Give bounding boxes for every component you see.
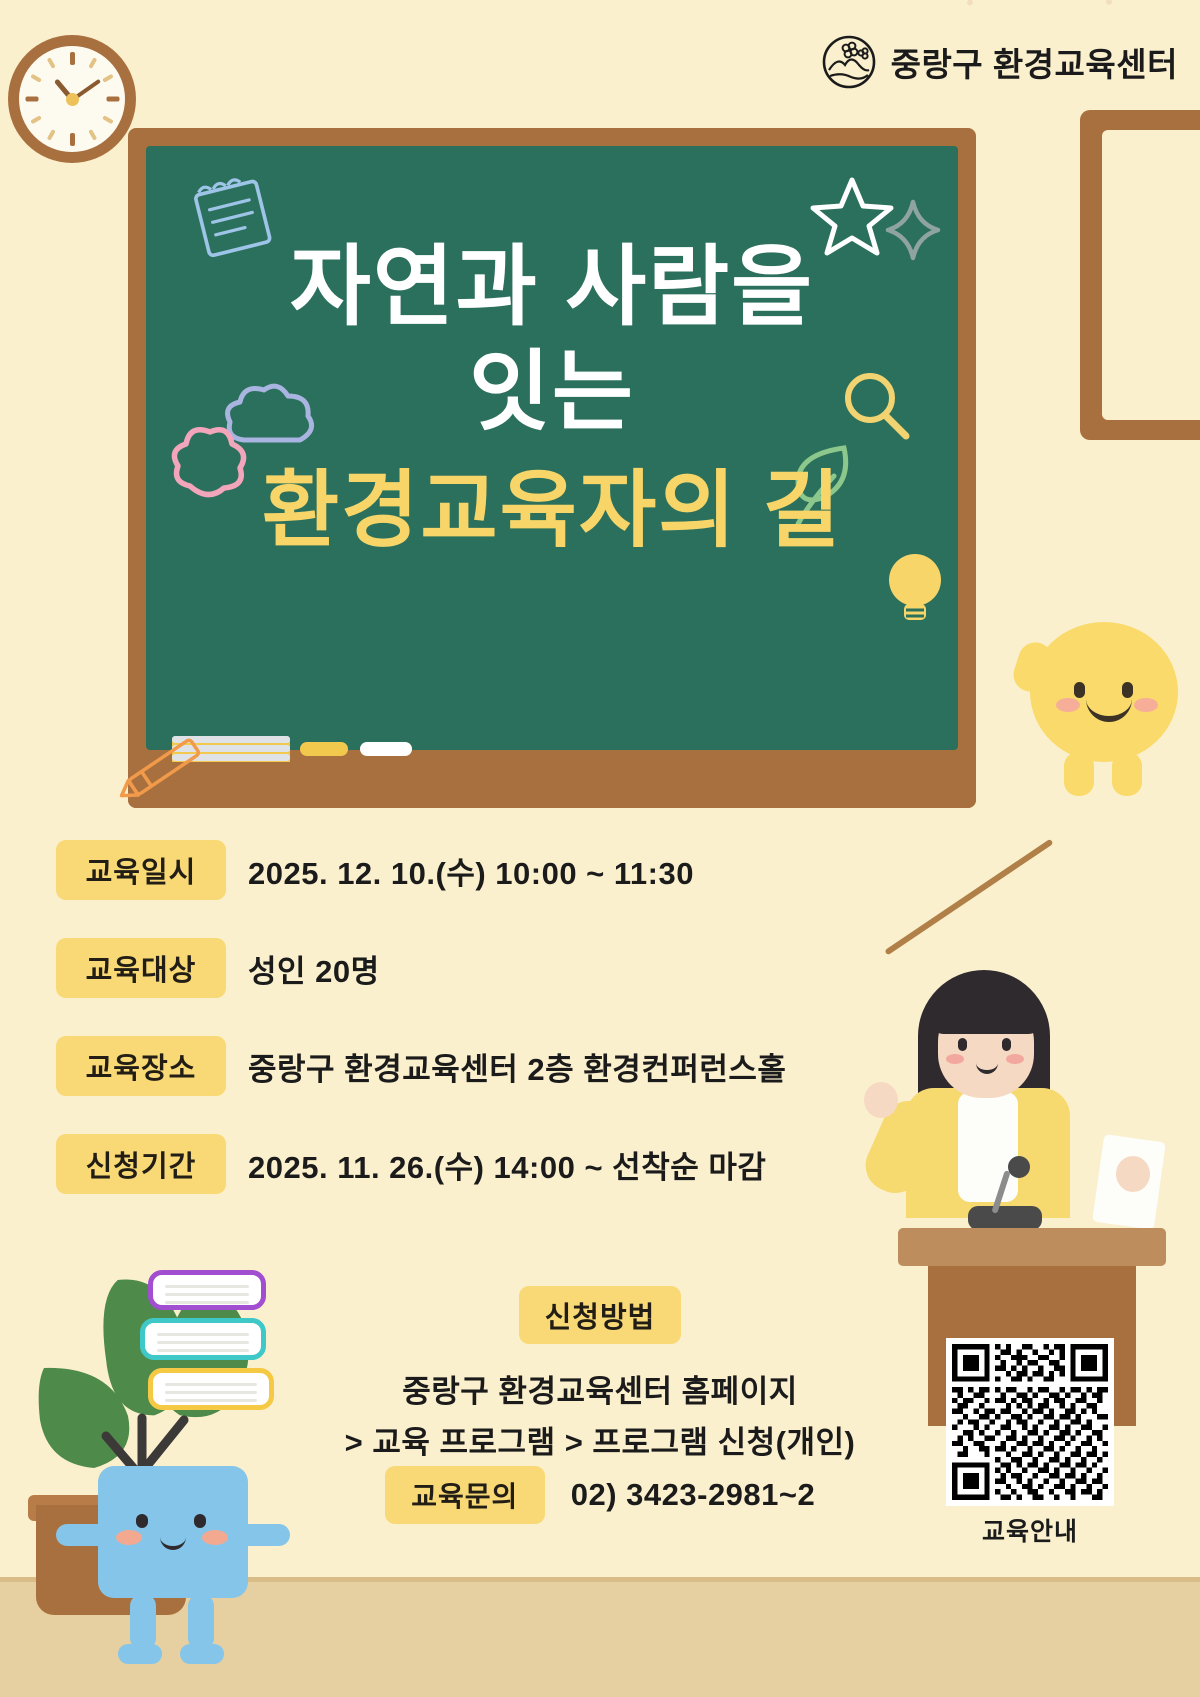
apply-method-block: 신청방법 중랑구 환경교육센터 홈페이지 > 교육 프로그램 > 프로그램 신청…: [0, 1286, 1200, 1462]
title-line-2: 잇는: [146, 343, 958, 442]
contact-phone-number: 02) 3423-2981~2: [571, 1477, 816, 1513]
contact-label-badge: 교육문의: [385, 1466, 545, 1524]
info-value: 2025. 12. 10.(수) 10:00 ~ 11:30: [248, 848, 694, 893]
chalk-yellow-icon: [300, 742, 348, 756]
info-list: 교육일시 2025. 12. 10.(수) 10:00 ~ 11:30 교육대상…: [56, 840, 876, 1232]
mascot-cheek-right: [1134, 698, 1158, 712]
info-label-badge: 교육장소: [56, 1036, 226, 1096]
apply-method-line-2: > 교육 프로그램 > 프로그램 신청(개인): [0, 1417, 1200, 1462]
teacher-eye-right: [1002, 1038, 1011, 1051]
book-character-leg-right: [188, 1594, 214, 1650]
wall-clock-icon: [8, 35, 136, 163]
door-inner-panel: [1102, 130, 1200, 420]
teacher-cheek-right: [1006, 1054, 1024, 1064]
book-character-foot-left: [118, 1644, 162, 1664]
info-row-1: 교육대상 성인 20명: [56, 938, 876, 998]
info-label-badge: 교육대상: [56, 938, 226, 998]
info-value: 성인 20명: [248, 946, 380, 991]
pointer-stick-icon: [884, 839, 1053, 956]
info-label-badge: 신청기간: [56, 1134, 226, 1194]
yellow-character-icon: [1012, 600, 1192, 820]
board-title: 자연과 사람을 잇는 환경교육자의 길: [146, 238, 958, 557]
info-value: 2025. 11. 26.(수) 14:00 ~ 선착순 마감: [248, 1142, 766, 1187]
book-character-mouth: [160, 1532, 186, 1550]
org-logo: 중랑구 환경교육센터: [821, 34, 1178, 90]
teacher-hair-front: [930, 982, 1042, 1034]
title-line-3: 환경교육자의 길: [146, 463, 958, 557]
teacher-hand-lower: [1116, 1156, 1150, 1192]
clock-face: [19, 46, 125, 152]
teacher-cheek-left: [946, 1054, 964, 1064]
mascot-cheek-left: [1056, 698, 1080, 712]
info-row-0: 교육일시 2025. 12. 10.(수) 10:00 ~ 11:30: [56, 840, 876, 900]
chalkboard: 자연과 사람을 잇는 환경교육자의 길: [128, 128, 976, 808]
book-character-cheek-right: [202, 1530, 228, 1545]
info-row-2: 교육장소 중랑구 환경교육센터 2층 환경컨퍼런스홀: [56, 1036, 876, 1096]
teacher-shirt: [958, 1092, 1018, 1202]
lightbulb-icon: [878, 544, 952, 636]
poster-root: 중랑구 환경교육센터: [0, 0, 1200, 1697]
chalkboard-ledge: [128, 762, 976, 808]
book-character-foot-right: [180, 1644, 224, 1664]
book-character-cheek-left: [116, 1530, 142, 1545]
mascot-eye-left: [1074, 682, 1085, 698]
book-character-leg-left: [130, 1594, 156, 1650]
clock-center-pin: [66, 93, 79, 106]
podium-top: [898, 1228, 1166, 1266]
chalk-white-icon: [360, 742, 412, 756]
org-name-label: 중랑구 환경교육센터: [891, 38, 1178, 86]
title-line-1: 자연과 사람을: [146, 238, 958, 337]
apply-method-badge: 신청방법: [519, 1286, 682, 1344]
info-label-badge: 교육일시: [56, 840, 226, 900]
apply-method-line-1: 중랑구 환경교육센터 홈페이지: [0, 1366, 1200, 1411]
contact-block: 교육문의 02) 3423-2981~2: [0, 1466, 1200, 1524]
info-value: 중랑구 환경교육센터 2층 환경컨퍼런스홀: [248, 1044, 786, 1089]
door-frame: [1080, 110, 1200, 440]
info-row-3: 신청기간 2025. 11. 26.(수) 14:00 ~ 선착순 마감: [56, 1134, 876, 1194]
teacher-at-podium-icon: [860, 960, 1160, 1300]
chalkboard-surface: 자연과 사람을 잇는 환경교육자의 길: [146, 146, 958, 750]
teacher-eye-left: [958, 1038, 967, 1051]
mountain-flower-emblem-icon: [821, 34, 877, 90]
microphone-head-icon: [1008, 1156, 1030, 1178]
microphone-base: [968, 1206, 1042, 1230]
